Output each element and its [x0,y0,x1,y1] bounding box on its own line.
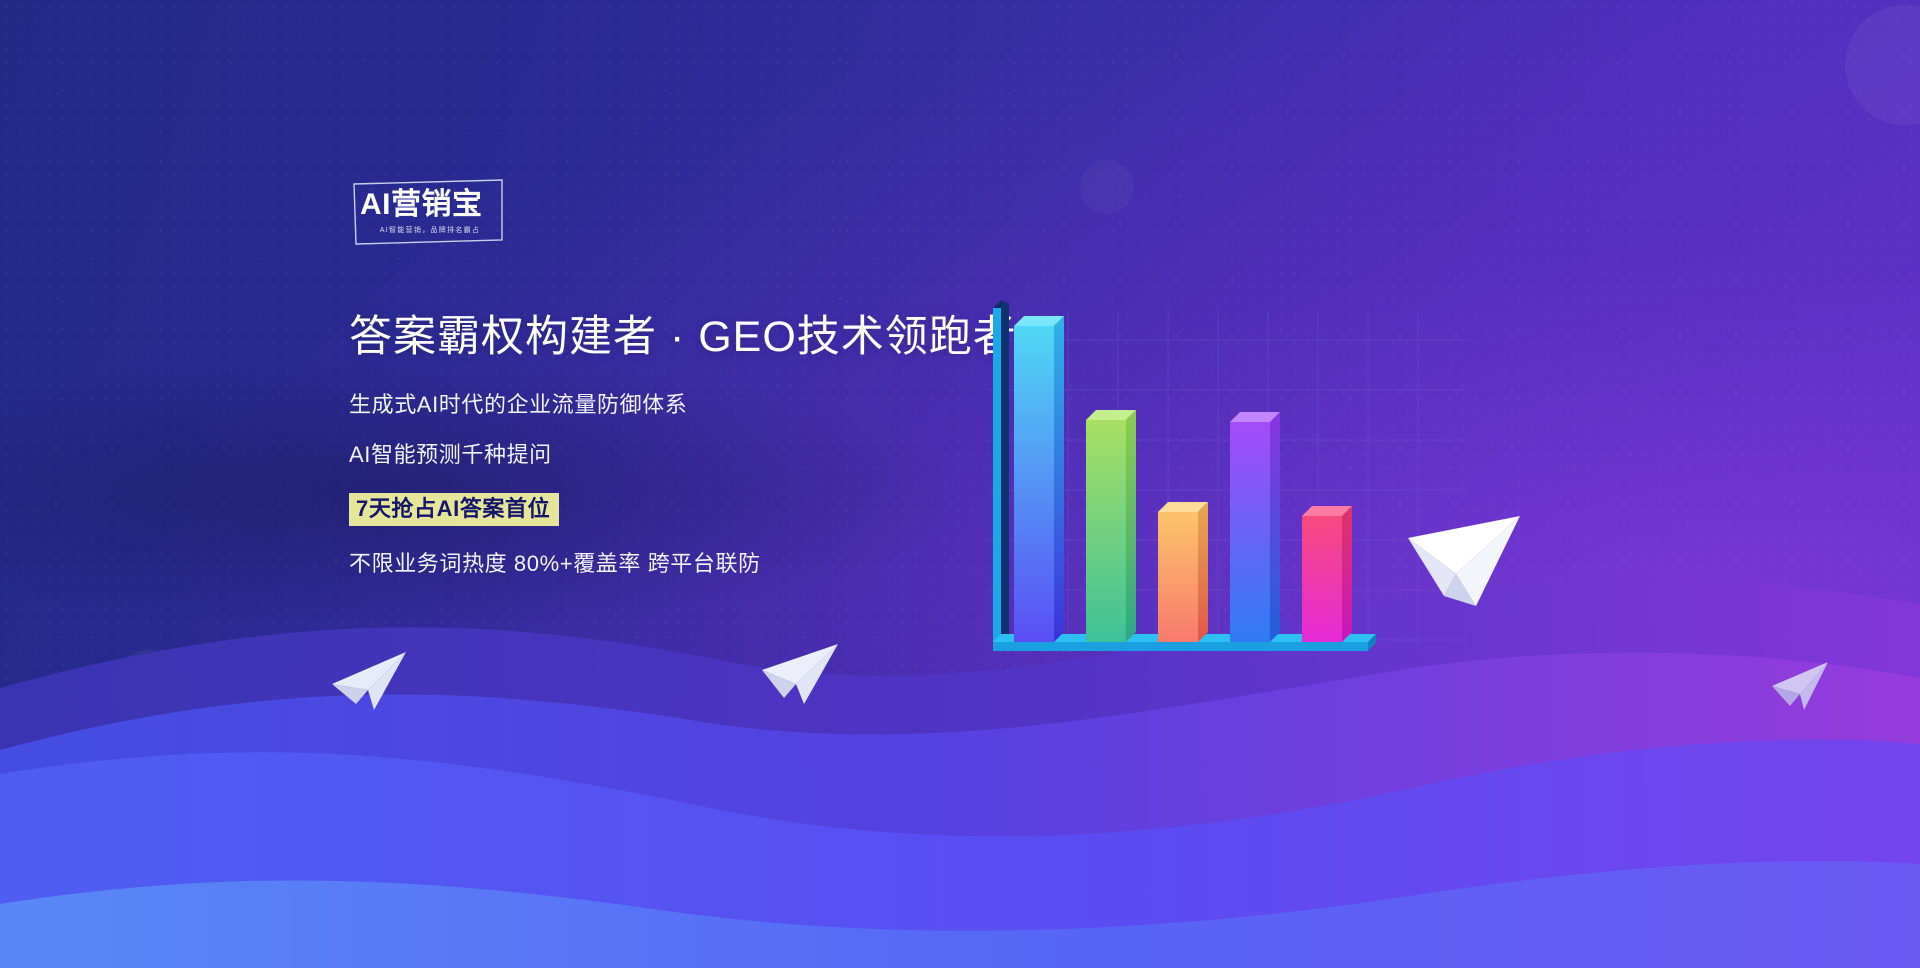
hero-highlight-row: 7天抢占AI答案首位 [349,493,1069,526]
hero-subtitle-1: 生成式AI时代的企业流量防御体系 [349,394,1069,416]
chart-bar [1302,506,1352,642]
hero-subtitle-4: 不限业务词热度 80%+覆盖率 跨平台联防 [349,553,1069,575]
page-title: 答案霸权构建者 · GEO技术领跑者 [349,312,1069,363]
chart-bar [1158,502,1208,642]
hero-copy: 答案霸权构建者 · GEO技术领跑者 生成式AI时代的企业流量防御体系 AI智能… [349,312,1069,575]
bar-chart-illustration [968,290,1468,670]
chart-bar [1086,410,1136,642]
decor-circle [1845,5,1920,125]
brand-logo[interactable]: AI营销宝 AI智能营销，品牌排名霸占 [352,178,504,246]
logo-tagline: AI智能营销，品牌排名霸占 [362,225,498,235]
hero-banner: AI营销宝 AI智能营销，品牌排名霸占 答案霸权构建者 · GEO技术领跑者 生… [0,0,1920,968]
decor-circle [1080,160,1134,214]
chart-bar [1014,316,1064,642]
hero-subtitle-2: AI智能预测千种提问 [349,444,1069,466]
wave-decoration [0,538,1920,968]
chart-bar [1230,412,1280,642]
hero-highlight-badge: 7天抢占AI答案首位 [349,493,559,526]
logo-wordmark: AI营销宝 [360,190,500,220]
